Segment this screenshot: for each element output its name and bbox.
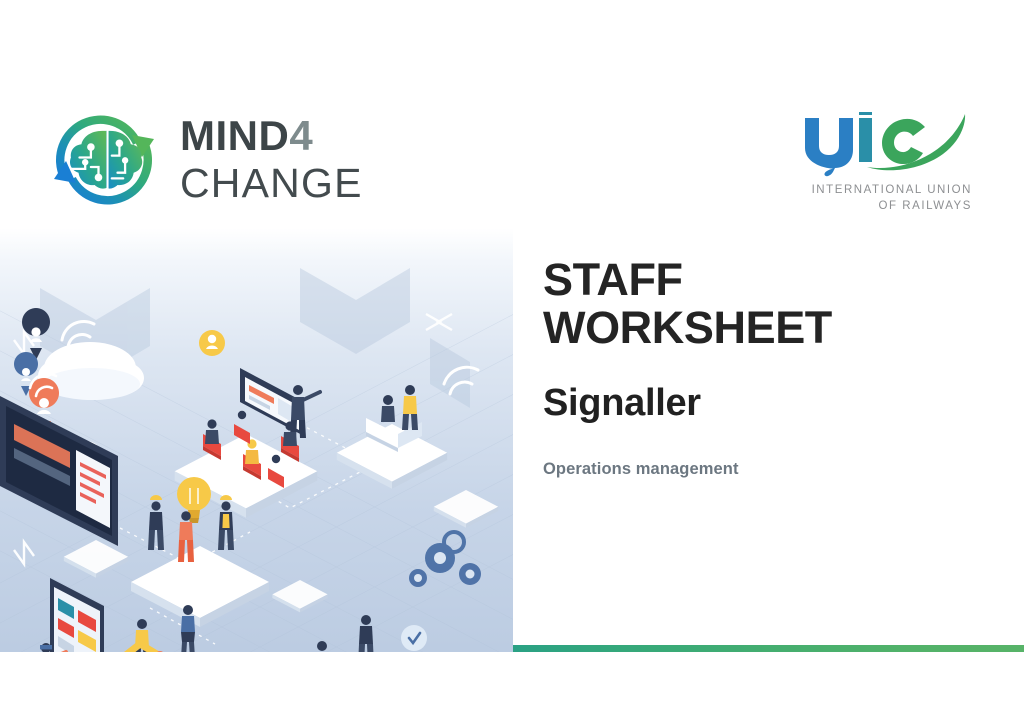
role-title: Signaller: [543, 384, 983, 424]
isometric-digital-railway-workplace-illustration: [0, 228, 513, 652]
uic-subtitle-line2: OF RAILWAYS: [878, 200, 972, 212]
uic-logo: INTERNATIONAL UNION OF RAILWAYS: [732, 112, 972, 218]
green-accent-rule: [513, 645, 1024, 652]
mind4change-mind-text: MIND: [180, 112, 289, 159]
department-label: Operations management: [543, 460, 983, 479]
uic-subtitle-line1: INTERNATIONAL UNION: [812, 184, 972, 196]
mind4change-line2: CHANGE: [180, 163, 363, 204]
page-title: STAFF WORKSHEET: [543, 256, 983, 352]
mind4change-four-text: 4: [289, 112, 313, 159]
slide-canvas: MIND4 CHANGE INTERNATIONAL UNION OF RAIL…: [0, 0, 1024, 724]
page-title-line2: WORKSHEET: [543, 304, 983, 352]
uic-swoosh-logo-icon: [797, 112, 972, 178]
uic-subtitle: INTERNATIONAL UNION OF RAILWAYS: [812, 182, 972, 215]
page-title-line1: STAFF: [543, 254, 683, 305]
mind4change-wordmark: MIND4 CHANGE: [180, 115, 363, 204]
mind4change-line1: MIND4: [180, 115, 363, 157]
title-block: STAFF WORKSHEET Signaller Operations man…: [543, 256, 983, 479]
mind4change-logo: MIND4 CHANGE: [42, 100, 372, 218]
brain-circular-arrows-icon: [42, 103, 166, 215]
